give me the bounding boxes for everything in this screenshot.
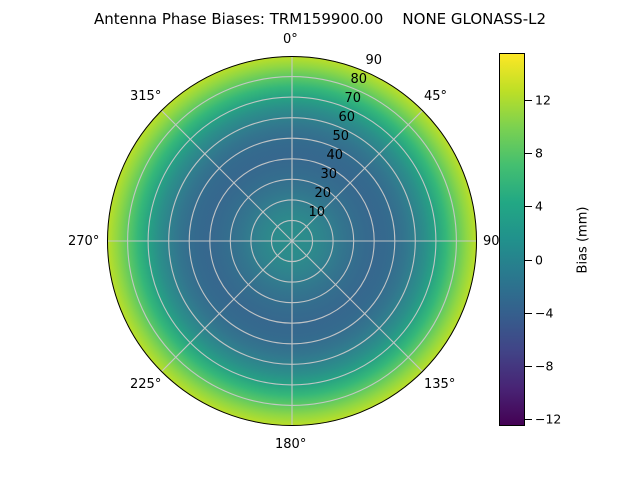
polar-heatmap-fill xyxy=(107,56,477,426)
page-title: Antenna Phase Biases: TRM159900.00 NONE … xyxy=(0,10,640,28)
polar-data-disc xyxy=(107,56,477,426)
radial-tick-90: 90 xyxy=(356,53,382,68)
angular-tick-270: 270° xyxy=(68,234,99,249)
polar-plot[interactable] xyxy=(107,56,477,426)
angular-tick-45: 45° xyxy=(424,89,447,104)
colorbar-ticklabel-0: 0 xyxy=(535,253,543,268)
colorbar-tickmark-8 xyxy=(525,153,532,154)
colorbar-ticklabel-n12: −12 xyxy=(535,412,561,427)
angular-tick-225: 225° xyxy=(130,377,161,392)
radial-tick-40: 40 xyxy=(317,148,343,163)
angular-tick-315: 315° xyxy=(130,89,161,104)
colorbar-tickmark-n8 xyxy=(525,366,532,367)
radial-tick-70: 70 xyxy=(335,91,361,106)
colorbar-tickmark-4 xyxy=(525,206,532,207)
colorbar-tickmark-n4 xyxy=(525,313,532,314)
angular-tick-0: 0° xyxy=(283,32,298,47)
figure-canvas: Antenna Phase Biases: TRM159900.00 NONE … xyxy=(0,0,640,480)
colorbar-axis-label: Bias (mm) xyxy=(576,207,591,274)
colorbar-ticklabel-n4: −4 xyxy=(535,306,553,321)
colorbar-ticklabel-4: 4 xyxy=(535,199,543,214)
colorbar-tickmark-n12 xyxy=(525,419,532,420)
radial-tick-20: 20 xyxy=(305,186,331,201)
colorbar[interactable] xyxy=(499,53,525,426)
colorbar-ticklabel-12: 12 xyxy=(535,93,551,108)
radial-tick-60: 60 xyxy=(329,110,355,125)
angular-tick-90: 90 xyxy=(483,234,500,249)
colorbar-gradient xyxy=(500,54,524,425)
colorbar-ticklabel-8: 8 xyxy=(535,146,543,161)
colorbar-tickmark-12 xyxy=(525,100,532,101)
colorbar-tickmark-0 xyxy=(525,260,532,261)
radial-tick-10: 10 xyxy=(299,205,325,220)
angular-tick-180: 180° xyxy=(275,437,306,452)
angular-tick-135: 135° xyxy=(424,377,455,392)
radial-tick-80: 80 xyxy=(341,72,367,87)
radial-tick-50: 50 xyxy=(323,129,349,144)
radial-tick-30: 30 xyxy=(311,167,337,182)
colorbar-ticklabel-n8: −8 xyxy=(535,359,553,374)
